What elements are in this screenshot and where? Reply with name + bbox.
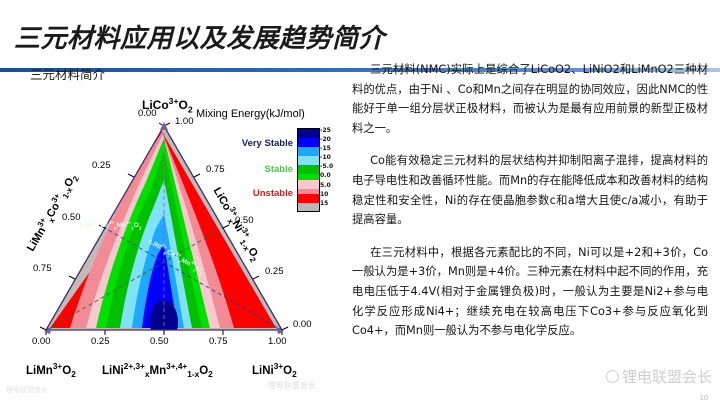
colorbar-tick-8: 15 [320,199,344,208]
annotation-nmc-left: LiNi2+xCo3+yMn4+zO2 [80,220,141,230]
colorbar-tick-6: 5.0 [320,181,344,190]
tick-bottom-0.25: 0.25 [91,336,110,347]
watermark-tertiary: 锂电联盟会长 [6,385,48,395]
tick-right-0.00: 0.00 [293,319,312,330]
tick-bottom-0.75: 0.75 [209,336,228,347]
watermark-main-text: 锂电联盟会长 [622,368,712,386]
paragraph-1: 三元材料(NMC)实际上是综合了LiCoO2、LiNiO2和LiMnO2三种材料… [352,60,708,138]
colorbar-legend: Very Stable Stable Unstable -25 -20 -15 … [239,126,344,216]
vertex-label-limno2: LiMn3+O2 [26,362,76,379]
body-text-column: 三元材料(NMC)实际上是综合了LiCoO2、LiNiO2和LiMnO2三种材料… [352,60,708,341]
colorbar-tick-4: -5.0 [320,162,344,171]
tick-left-0.75: 0.75 [33,263,52,274]
watermark-ring-icon [606,370,619,383]
colorbar-tick-7: 10 [320,190,344,199]
tick-right-0.75: 0.75 [206,164,225,175]
tick-bottom-0.50: 0.50 [150,336,169,347]
tick-left-0.25: 0.25 [92,160,111,171]
page-title: 三元材料应用以及发展趋势简介 [14,18,385,55]
legend-label-very-stable: Very Stable [237,138,293,149]
colorbar-gradient [297,128,320,212]
colorbar-tick-2: -15 [320,144,344,153]
paragraph-3: 在三元材料中，根据各元素配比的不同，Ni可以是+2和+3价，Co一般认为是+3价… [352,243,708,341]
section-subheading: 三元材料简介 [30,64,105,83]
tick-left-0.00: 0.00 [138,108,157,119]
colorbar-tick-5: 0.0 [320,171,344,180]
vertex-label-linio2: LiNi3+O2 [252,362,297,379]
tick-right-0.25: 0.25 [265,266,284,277]
axis-label-bottom: LiNi2+,3+xMn3+,4+1-xO2 [102,362,213,379]
watermark-main: 锂电联盟会长 [606,366,712,387]
tick-bottom-0.00: 0.00 [32,336,51,347]
colorbar-tick-1: -20 [320,135,344,144]
ternary-diagram-figure: LiCo3+O2 Mixing Energy(kJ/mol) [34,96,346,386]
slide-header: 三元材料应用以及发展趋势简介 [0,18,720,58]
paragraph-2: Co能有效稳定三元材料的层状结构并抑制阳离子混排，提高材料的电子导电性和改善循环… [352,151,708,229]
tick-right-1.00: 1.00 [175,116,194,127]
legend-label-stable: Stable [237,164,293,175]
tick-bottom-1.00: 1.00 [268,336,287,347]
colorbar-tick-labels: -25 -20 -15 -10 -5.0 0.0 5.0 10 15 [320,126,344,212]
tick-left-0.50: 0.50 [62,212,81,223]
colorbar-tick-3: -10 [320,153,344,162]
page-number: 10 [700,393,708,402]
slide-canvas: 三元材料应用以及发展趋势简介 三元材料简介 LiCo3+O2 Mixing En… [0,0,720,405]
legend-label-unstable: Unstable [237,188,293,199]
colorbar-tick-0: -25 [320,126,344,135]
